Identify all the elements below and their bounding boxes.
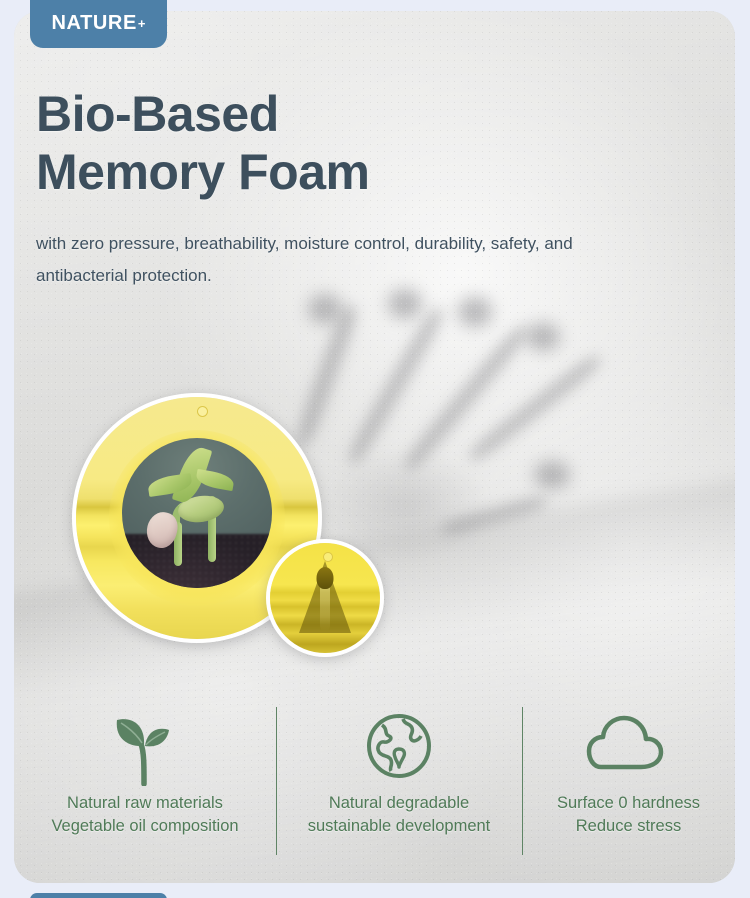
feature-natural-raw-materials: Natural raw materials Vegetable oil comp… — [14, 700, 276, 860]
feature-label: Natural degradable sustainable developme… — [308, 792, 491, 838]
page-canvas: NATURE+ Bio-Based Memory Foam with zero … — [0, 0, 750, 898]
title-line-two: Memory Foam — [36, 143, 369, 201]
sprout-leaf-right — [195, 469, 235, 491]
feature-surface-zero-hardness: Surface 0 hardness Reduce stress — [522, 700, 735, 860]
feature-label: Surface 0 hardness Reduce stress — [557, 792, 700, 838]
cloud-icon — [583, 700, 675, 792]
leaf-sprout-icon — [107, 700, 183, 792]
droplet-head — [317, 567, 334, 589]
oil-droplet-image — [266, 539, 384, 657]
feature-label-line-two: Vegetable oil composition — [51, 815, 238, 838]
feature-label-line-one: Surface 0 hardness — [557, 792, 700, 815]
soil-bed — [122, 534, 272, 588]
brand-badge: NATURE+ — [30, 0, 167, 48]
title-line-one: Bio-Based — [36, 85, 369, 143]
seedling-photo-inset — [122, 438, 272, 588]
feature-label: Natural raw materials Vegetable oil comp… — [51, 792, 238, 838]
hero-subtitle: with zero pressure, breathability, moist… — [36, 228, 596, 292]
feature-label-line-two: sustainable development — [308, 815, 491, 838]
brand-superscript: + — [138, 17, 146, 30]
oil-bubble-icon — [323, 552, 333, 562]
feature-natural-degradable: Natural degradable sustainable developme… — [276, 700, 522, 860]
globe-earth-icon — [362, 700, 436, 792]
page-title: Bio-Based Memory Foam — [36, 85, 369, 201]
feature-row: Natural raw materials Vegetable oil comp… — [14, 700, 735, 860]
feature-label-line-one: Natural degradable — [308, 792, 491, 815]
brand-name: NATURE — [51, 13, 136, 33]
feature-label-line-two: Reduce stress — [557, 815, 700, 838]
feature-label-line-one: Natural raw materials — [51, 792, 238, 815]
next-section-badge — [30, 893, 167, 898]
oil-bubble-icon — [197, 406, 208, 417]
